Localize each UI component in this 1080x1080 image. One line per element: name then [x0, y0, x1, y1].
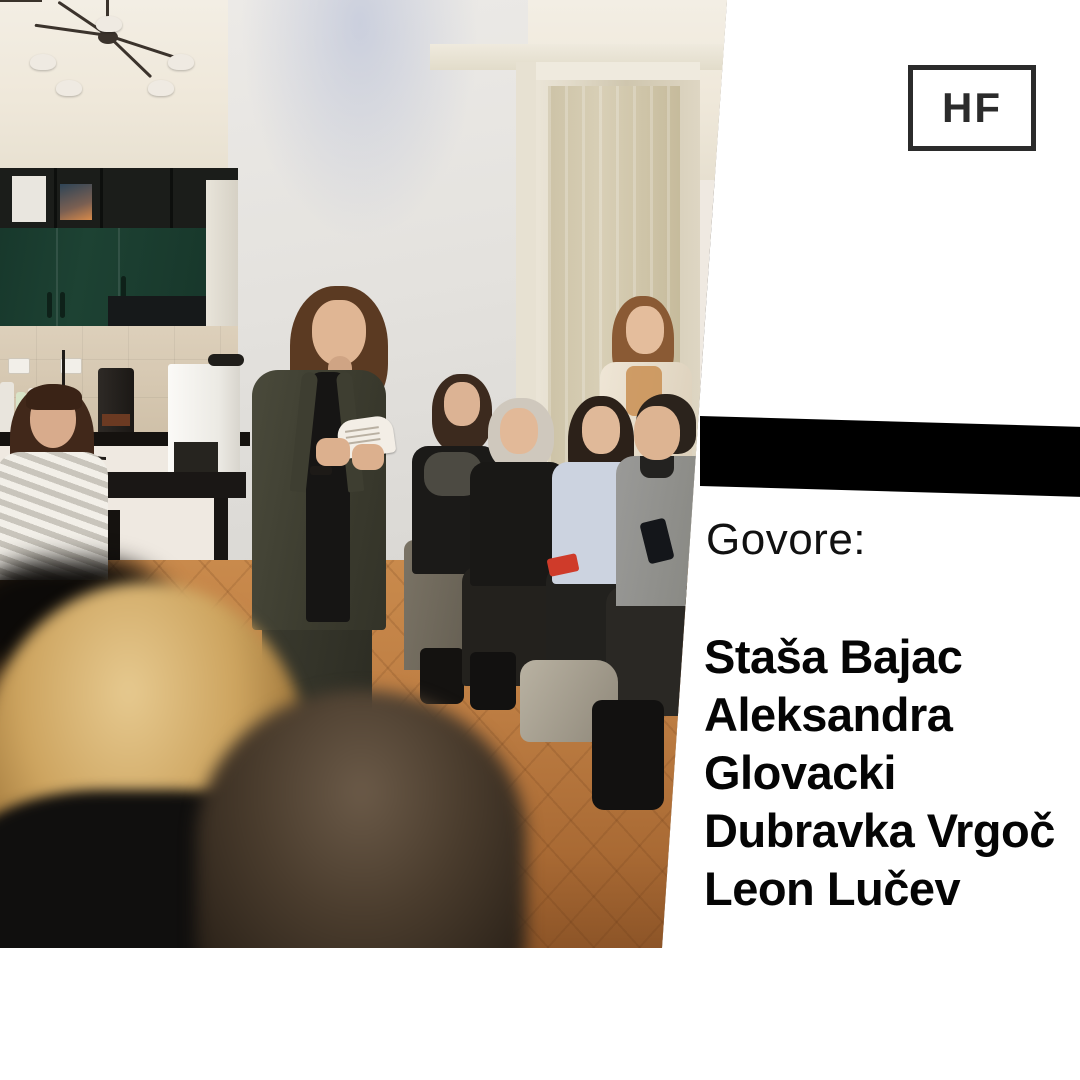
wall-outlet	[8, 358, 30, 374]
range-hood	[108, 296, 218, 328]
speakers-list: Staša Bajac Aleksandra Glovacki Dubravka…	[704, 628, 1080, 918]
wristwatch	[310, 466, 332, 475]
hf-logo[interactable]: HF	[908, 65, 1036, 151]
kitchen-upper-shelf	[0, 168, 238, 230]
hf-logo-label: HF	[942, 87, 1002, 129]
speaker-name: Aleksandra	[704, 686, 1080, 744]
coffee-machine	[98, 368, 134, 434]
event-photo	[0, 0, 730, 948]
boot	[592, 700, 664, 810]
sponsor-footer: SLAVIC SOUNDWALKING KULTURNO INFORMATIVN…	[0, 948, 1080, 1080]
intro-label: Govore:	[706, 518, 866, 562]
accent-band	[700, 380, 1080, 530]
speaker-name: Leon Lučev	[704, 860, 1080, 918]
speaker-name: Glovacki	[704, 744, 1080, 802]
speaker-name: Dubravka Vrgoč	[704, 802, 1080, 860]
event-poster: HF Govore: Staša Bajac Aleksandra Glovac…	[0, 0, 1080, 1080]
tall-cabinet	[206, 180, 238, 330]
glasses-icon	[0, 0, 42, 8]
wall-light-glow	[240, 0, 480, 240]
speaker-name: Staša Bajac	[704, 628, 1080, 686]
person-audience-2	[0, 0, 42, 8]
chandelier-icon	[20, 0, 210, 96]
photo-scene	[0, 0, 730, 948]
